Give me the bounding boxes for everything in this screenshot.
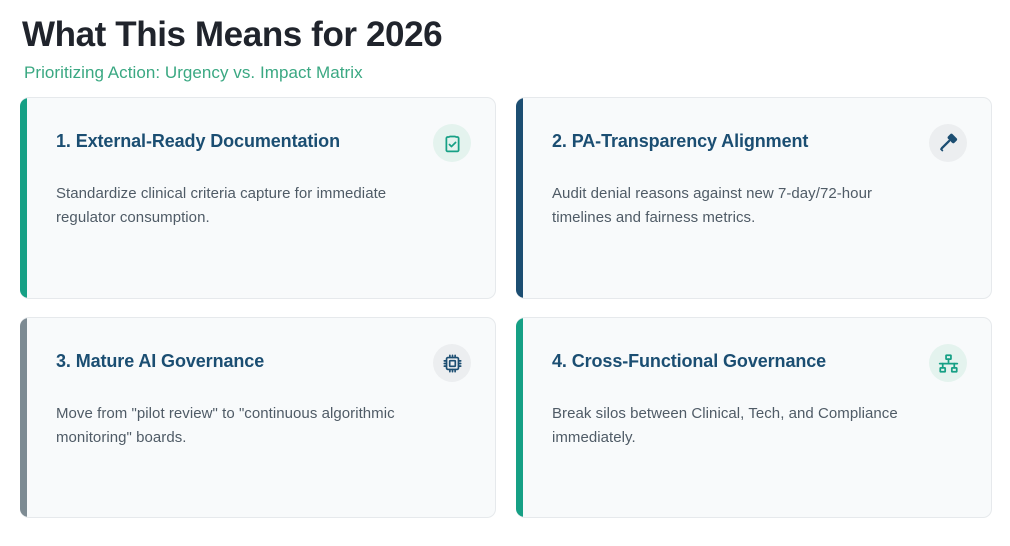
recommendation-card-3[interactable]: 3. Mature AI Governance Move from "pilot… (20, 317, 496, 518)
slide-header: What This Means for 2026 Prioritizing Ac… (0, 0, 1010, 84)
card-body-text: Audit denial reasons against new 7-day/7… (552, 182, 932, 230)
slide-root: What This Means for 2026 Prioritizing Ac… (0, 0, 1010, 546)
sitemap-icon (929, 344, 967, 382)
card-header: 3. Mature AI Governance (56, 344, 471, 382)
recommendation-card-grid: 1. External-Ready Documentation Standard… (20, 97, 990, 518)
recommendation-card-2[interactable]: 2. PA-Transparency Alignment Audit denia… (516, 97, 992, 299)
clipboard-check-icon (433, 124, 471, 162)
page-title: What This Means for 2026 (22, 14, 1010, 56)
card-title: 1. External-Ready Documentation (56, 124, 340, 153)
page-subtitle: Prioritizing Action: Urgency vs. Impact … (24, 62, 1010, 84)
card-accent-bar (20, 98, 27, 298)
card-body-text: Standardize clinical criteria capture fo… (56, 182, 436, 230)
card-header: 2. PA-Transparency Alignment (552, 124, 967, 162)
card-title: 3. Mature AI Governance (56, 344, 264, 373)
card-header: 1. External-Ready Documentation (56, 124, 471, 162)
card-accent-bar (516, 98, 523, 298)
recommendation-card-1[interactable]: 1. External-Ready Documentation Standard… (20, 97, 496, 299)
card-body-text: Break silos between Clinical, Tech, and … (552, 402, 932, 450)
gavel-icon (929, 124, 967, 162)
card-body-text: Move from "pilot review" to "continuous … (56, 402, 436, 450)
card-title: 2. PA-Transparency Alignment (552, 124, 808, 153)
microchip-icon (433, 344, 471, 382)
card-header: 4. Cross-Functional Governance (552, 344, 967, 382)
recommendation-card-4[interactable]: 4. Cross-Functional Governance Break sil… (516, 317, 992, 518)
card-accent-bar (516, 318, 523, 517)
card-accent-bar (20, 318, 27, 517)
card-title: 4. Cross-Functional Governance (552, 344, 826, 373)
